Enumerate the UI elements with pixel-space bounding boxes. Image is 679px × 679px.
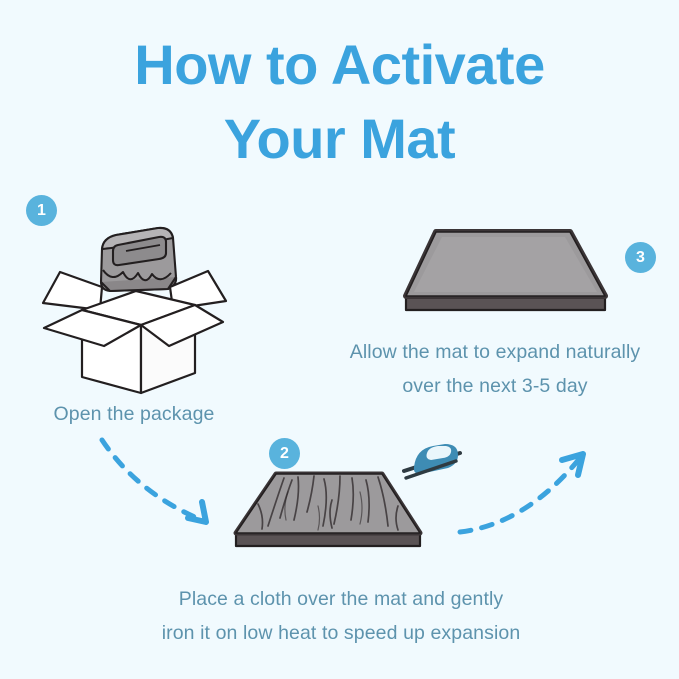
step-caption-3-line-1: Allow the mat to expand naturally [311, 336, 679, 370]
page-title: How to Activate Your Mat [0, 28, 679, 176]
title-line-2: Your Mat [0, 102, 679, 176]
infographic-canvas: How to Activate Your Mat 1 [0, 0, 679, 679]
step-caption-2-line-2: iron it on low heat to speed up expansio… [96, 617, 586, 651]
step-caption-1: Open the package [0, 398, 268, 432]
arrow-step1-to-step2 [92, 432, 232, 542]
step-badge-3: 3 [625, 242, 656, 273]
step-caption-3: Allow the mat to expand naturally over t… [311, 336, 679, 403]
flat-smooth-mat-icon [398, 220, 613, 325]
arrow-step2-to-step3 [452, 438, 602, 543]
step-caption-2-line-1: Place a cloth over the mat and gently [96, 583, 586, 617]
step-caption-1-line-1: Open the package [0, 398, 268, 432]
step-badge-1: 1 [26, 195, 57, 226]
open-cardboard-box-with-mat-icon [40, 225, 230, 395]
step-caption-2: Place a cloth over the mat and gently ir… [96, 583, 586, 650]
title-line-1: How to Activate [0, 28, 679, 102]
step-caption-3-line-2: over the next 3-5 day [311, 370, 679, 404]
